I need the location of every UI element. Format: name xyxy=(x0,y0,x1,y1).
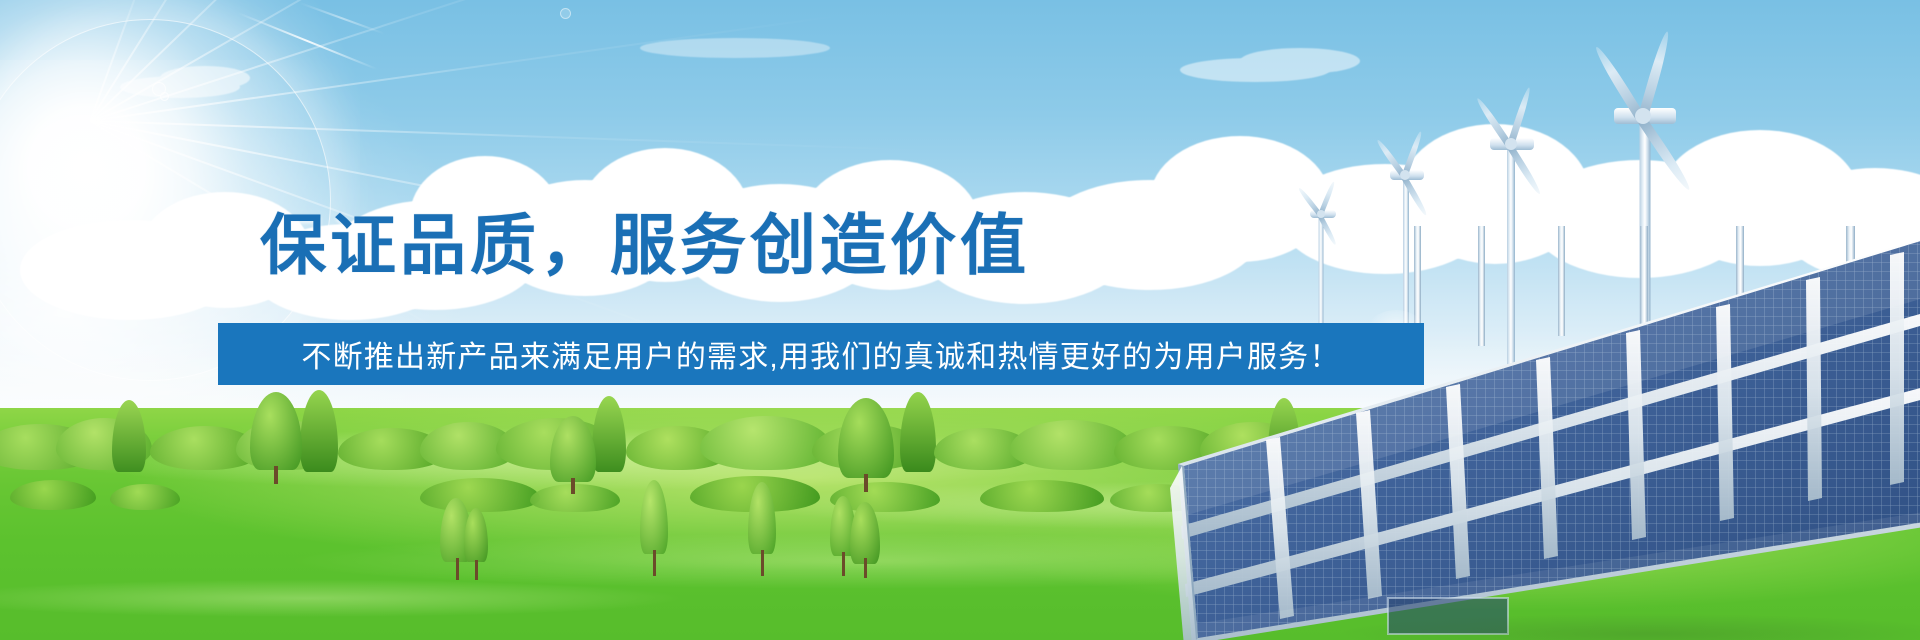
solar-panel-shadow xyxy=(1190,586,1920,640)
solar-panel-svg xyxy=(1170,226,1920,640)
solar-panel-face xyxy=(1178,236,1920,640)
page-title: 保证品质，服务创造价值 xyxy=(0,212,1290,278)
aircraft-contrail-icon-2 xyxy=(300,2,385,35)
subtitle-text: 不断推出新产品来满足用户的需求,用我们的真诚和热情更好的为用户服务！ xyxy=(301,332,1340,376)
subtitle-banner: 不断推出新产品来满足用户的需求,用我们的真诚和热情更好的为用户服务！ xyxy=(218,323,1424,385)
promotional-banner: 保证品质，服务创造价值 不断推出新产品来满足用户的需求,用我们的真诚和热情更好的… xyxy=(0,0,1920,640)
solar-panel-array xyxy=(1170,226,1920,640)
aircraft-contrail-icon xyxy=(238,12,378,70)
